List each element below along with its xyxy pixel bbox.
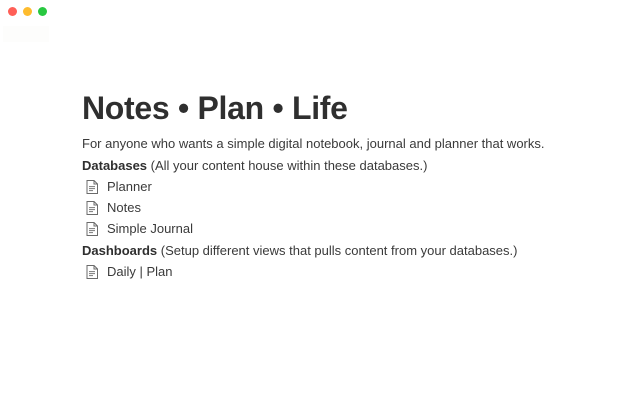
document-icon: [86, 222, 99, 236]
list-item-label: Simple Journal: [107, 220, 193, 238]
section-heading-note: (Setup different views that pulls conten…: [157, 243, 517, 258]
list-item-label: Notes: [107, 199, 141, 217]
window-titlebar: [0, 0, 640, 26]
window-controls: [8, 7, 47, 16]
section-heading-note: (All your content house within these dat…: [147, 158, 427, 173]
section-heading-label: Databases: [82, 158, 147, 173]
faint-artifact: [3, 26, 49, 42]
list-item[interactable]: Simple Journal: [86, 220, 193, 238]
minimize-button[interactable]: [23, 7, 32, 16]
document-icon: [86, 201, 99, 215]
section-heading-label: Dashboards: [82, 243, 157, 258]
maximize-button[interactable]: [38, 7, 47, 16]
page-title: Notes • Plan • Life: [82, 88, 348, 128]
page-subtitle: For anyone who wants a simple digital no…: [82, 135, 545, 153]
document-icon: [86, 265, 99, 279]
list-item-label: Planner: [107, 178, 152, 196]
close-button[interactable]: [8, 7, 17, 16]
document-icon: [86, 180, 99, 194]
app-window: Notes • Plan • Life For anyone who wants…: [0, 0, 640, 400]
list-item[interactable]: Daily | Plan: [86, 263, 173, 281]
section-heading-dashboards: Dashboards (Setup different views that p…: [82, 242, 517, 260]
list-item[interactable]: Planner: [86, 178, 152, 196]
list-item-label: Daily | Plan: [107, 263, 173, 281]
list-item[interactable]: Notes: [86, 199, 141, 217]
section-heading-databases: Databases (All your content house within…: [82, 157, 427, 175]
